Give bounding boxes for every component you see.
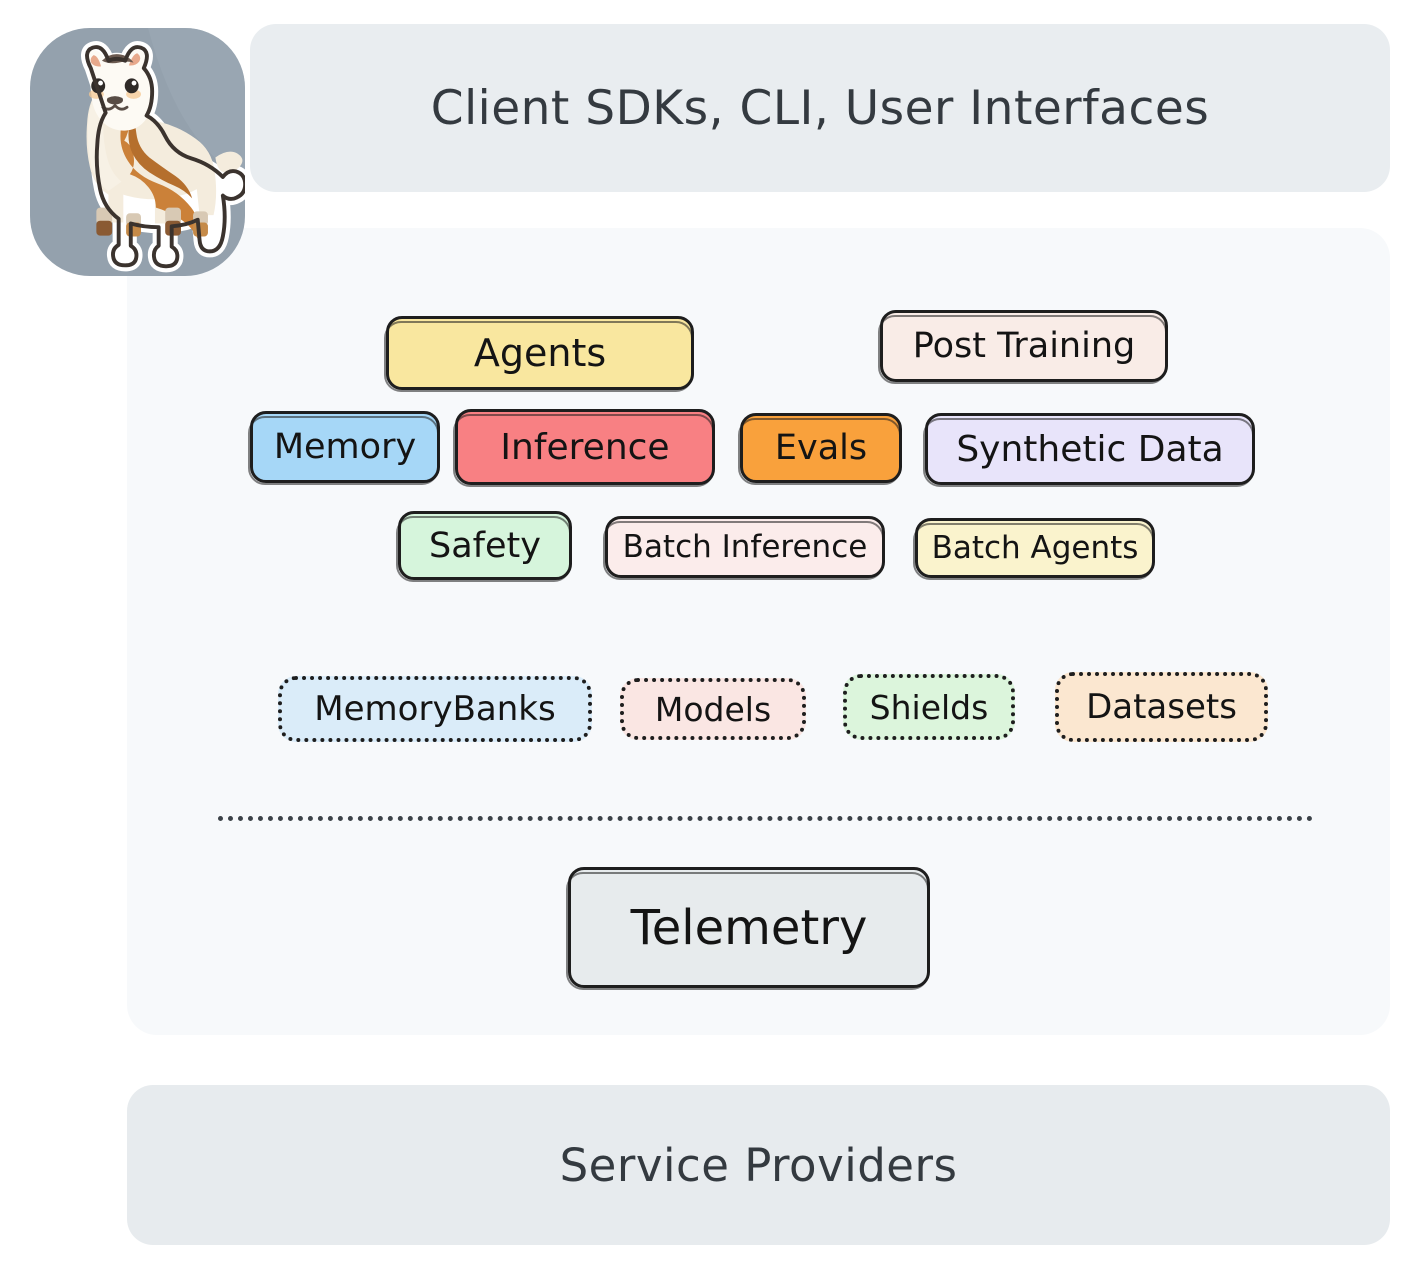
resource-box-label: Datasets xyxy=(1086,687,1237,727)
llama-icon xyxy=(30,28,245,276)
llama-logo-badge xyxy=(30,28,245,276)
resource-box-label: Models xyxy=(655,690,771,729)
resource-box-shields[interactable]: Shields xyxy=(843,674,1015,740)
api-box-label: Synthetic Data xyxy=(956,429,1223,470)
api-box-label: Batch Inference xyxy=(623,529,868,565)
resource-box-models[interactable]: Models xyxy=(620,678,806,740)
resource-box-memorybanks[interactable]: MemoryBanks xyxy=(278,676,592,742)
api-box-label: Inference xyxy=(500,427,669,468)
api-box-safety[interactable]: Safety xyxy=(398,511,572,580)
telemetry-divider xyxy=(218,816,1313,821)
service-providers-bar: Service Providers xyxy=(127,1085,1390,1245)
api-box-label: Agents xyxy=(474,331,606,375)
api-box-label: Batch Agents xyxy=(932,530,1139,566)
resource-box-label: Shields xyxy=(870,688,989,727)
client-interfaces-label: Client SDKs, CLI, User Interfaces xyxy=(431,81,1209,136)
api-box-agents[interactable]: Agents xyxy=(386,316,694,390)
api-box-inference[interactable]: Inference xyxy=(455,409,715,485)
client-interfaces-bar: Client SDKs, CLI, User Interfaces xyxy=(250,24,1390,192)
api-box-label: Post Training xyxy=(913,326,1135,366)
api-box-label: Evals xyxy=(775,428,867,468)
api-box-post-training[interactable]: Post Training xyxy=(880,310,1168,382)
api-box-evals[interactable]: Evals xyxy=(740,413,902,483)
resource-box-label: MemoryBanks xyxy=(314,689,555,729)
service-providers-label: Service Providers xyxy=(560,1139,958,1192)
api-box-batch-agents[interactable]: Batch Agents xyxy=(915,518,1155,578)
api-box-synthetic-data[interactable]: Synthetic Data xyxy=(925,413,1255,485)
resource-box-datasets[interactable]: Datasets xyxy=(1055,672,1268,742)
api-box-batch-inference[interactable]: Batch Inference xyxy=(605,516,885,578)
api-box-memory[interactable]: Memory xyxy=(250,411,440,483)
api-box-label: Safety xyxy=(429,526,541,566)
telemetry-box-telemetry[interactable]: Telemetry xyxy=(568,867,930,988)
api-box-label: Memory xyxy=(274,427,416,467)
telemetry-box-label: Telemetry xyxy=(631,900,868,956)
